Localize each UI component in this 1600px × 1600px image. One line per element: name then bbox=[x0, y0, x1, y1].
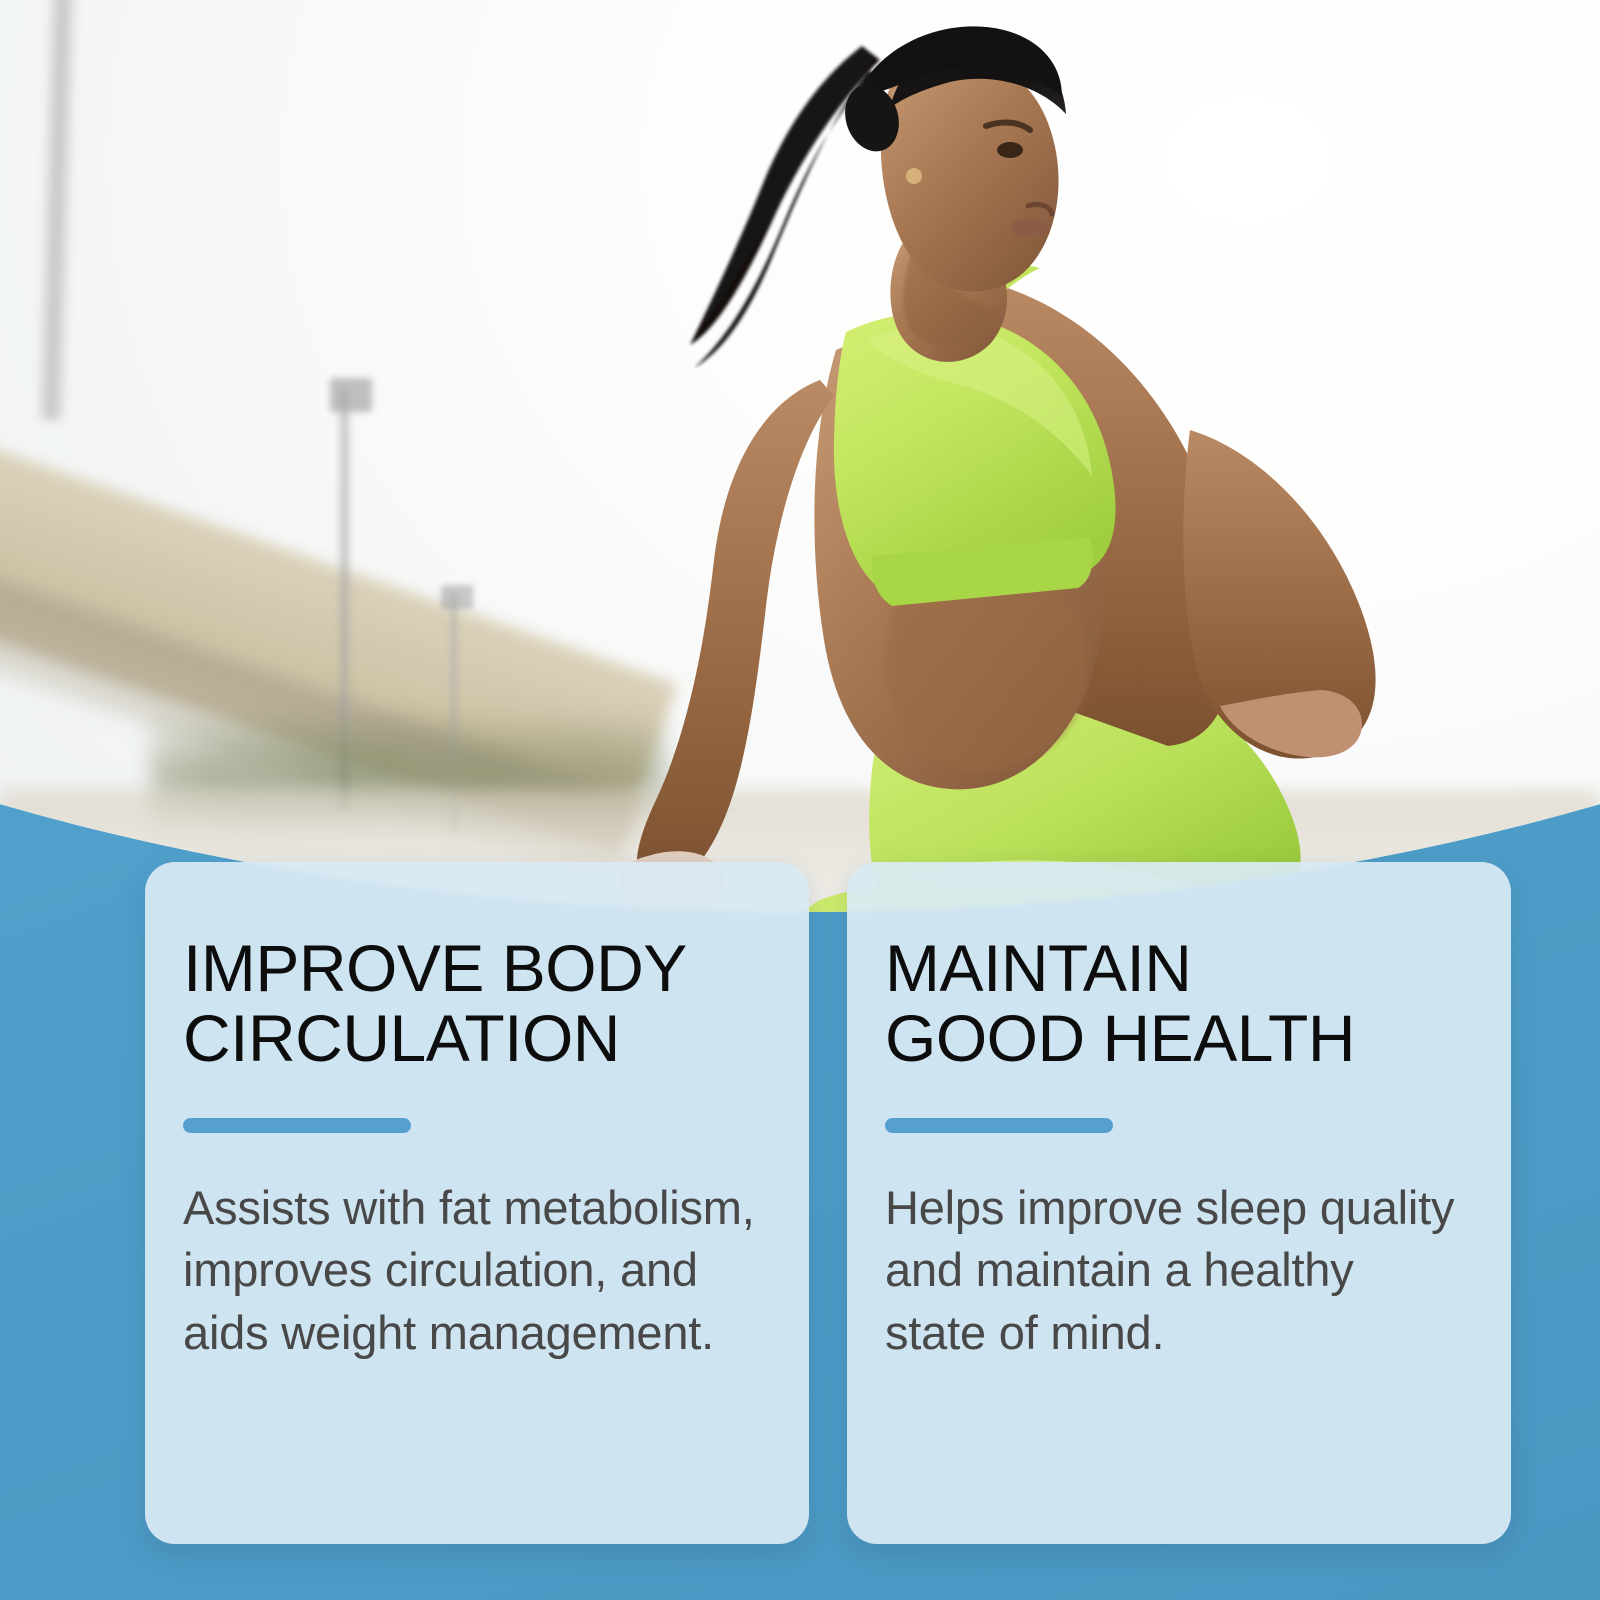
card-accent-rule bbox=[885, 1118, 1113, 1133]
card-title: IMPROVE BODY CIRCULATION bbox=[183, 934, 755, 1074]
benefit-card-maintain-good-health[interactable]: MAINTAIN GOOD HEALTH Helps improve sleep… bbox=[847, 862, 1511, 1544]
card-body-text: Helps improve sleep quality and maintain… bbox=[885, 1177, 1457, 1365]
card-body-text: Assists with fat metabolism, improves ci… bbox=[183, 1177, 755, 1365]
card-title: MAINTAIN GOOD HEALTH bbox=[885, 934, 1457, 1074]
card-accent-rule bbox=[183, 1118, 411, 1133]
benefit-cards-row: IMPROVE BODY CIRCULATION Assists with fa… bbox=[145, 862, 1511, 1544]
benefit-card-improve-body-circulation[interactable]: IMPROVE BODY CIRCULATION Assists with fa… bbox=[145, 862, 809, 1544]
poster-canvas: IMPROVE BODY CIRCULATION Assists with fa… bbox=[0, 0, 1600, 1600]
